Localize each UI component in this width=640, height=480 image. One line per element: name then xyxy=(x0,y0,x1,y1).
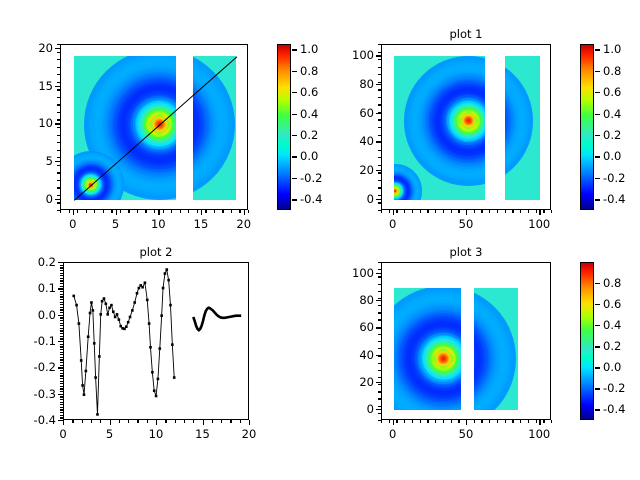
y-minor-tick xyxy=(378,363,381,364)
x-minor-tick xyxy=(77,210,78,213)
x-minor-tick xyxy=(396,420,397,423)
x-minor-tick xyxy=(420,420,421,423)
data-point-marker xyxy=(101,300,104,303)
x-minor-tick xyxy=(481,420,482,423)
data-point-marker xyxy=(149,346,152,349)
y-minor-tick xyxy=(378,112,381,113)
colorbar-tick xyxy=(595,388,600,389)
y-minor-tick xyxy=(57,52,60,53)
colorbar-tick xyxy=(292,135,297,136)
data-point-marker xyxy=(78,322,81,325)
colorbar-tick xyxy=(595,325,600,326)
axes-clip xyxy=(382,263,550,419)
x-minor-tick xyxy=(156,420,157,423)
data-point-marker xyxy=(171,343,174,346)
x-tick-label: 20 xyxy=(236,218,251,230)
y-minor-tick xyxy=(378,180,381,181)
x-minor-tick xyxy=(120,210,121,213)
x-tick-label: 100 xyxy=(528,428,550,440)
colorbar-tick xyxy=(292,92,297,93)
y-minor-tick xyxy=(57,97,60,98)
y-tick-label: 5 xyxy=(0,155,53,167)
y-minor-tick xyxy=(378,291,381,292)
y-minor-tick xyxy=(60,328,63,329)
line-series-group xyxy=(64,263,248,419)
y-minor-tick xyxy=(378,284,381,285)
y-minor-tick xyxy=(60,294,63,295)
y-minor-tick xyxy=(60,265,63,266)
x-minor-tick xyxy=(489,420,490,423)
x-minor-tick xyxy=(536,420,537,423)
y-minor-tick xyxy=(60,273,63,274)
x-minor-tick xyxy=(443,420,444,423)
y-tick-label: -0.2 xyxy=(3,361,56,373)
x-minor-tick xyxy=(420,210,421,213)
x-tick-label: 100 xyxy=(528,218,550,230)
x-minor-tick xyxy=(184,420,185,423)
colorbar-tick-label: 0.2 xyxy=(603,129,621,141)
data-point-marker xyxy=(146,299,149,302)
y-tick-label: 0 xyxy=(321,403,374,415)
x-tick xyxy=(158,210,159,215)
axes-plot-1 xyxy=(381,44,551,210)
x-minor-tick xyxy=(248,210,249,213)
x-minor-tick xyxy=(205,210,206,213)
y-minor-tick xyxy=(378,187,381,188)
y-minor-tick xyxy=(60,267,63,268)
y-tick-label: 0.1 xyxy=(3,282,56,294)
data-point-marker xyxy=(110,304,113,307)
x-minor-tick xyxy=(103,210,104,213)
y-minor-tick xyxy=(378,298,381,299)
data-point-marker xyxy=(127,321,130,324)
y-minor-tick xyxy=(60,396,63,397)
data-point-marker xyxy=(83,393,86,396)
x-minor-tick xyxy=(435,210,436,213)
x-minor-tick xyxy=(543,210,544,213)
data-point-marker xyxy=(144,281,147,284)
data-point-marker xyxy=(103,297,106,300)
colorbar-tick-label: -0.4 xyxy=(603,403,625,415)
x-minor-tick xyxy=(69,210,70,213)
data-point-marker xyxy=(138,287,141,290)
y-minor-tick xyxy=(60,375,63,376)
y-minor-tick xyxy=(60,367,63,368)
data-point-marker xyxy=(141,286,144,289)
x-tick-label: 50 xyxy=(459,218,474,230)
data-point-marker xyxy=(92,309,95,312)
data-point-marker xyxy=(72,295,75,298)
y-minor-tick xyxy=(60,317,63,318)
x-minor-tick xyxy=(63,420,64,423)
y-minor-tick xyxy=(60,359,63,360)
x-tick xyxy=(116,210,117,215)
y-minor-tick xyxy=(60,412,63,413)
y-minor-tick xyxy=(378,82,381,83)
y-minor-tick xyxy=(60,383,63,384)
x-minor-tick xyxy=(175,420,176,423)
colorbar-tick-label: 0.6 xyxy=(603,298,621,310)
y-tick-label: -0.4 xyxy=(3,414,56,426)
y-minor-tick xyxy=(60,357,63,358)
data-point-marker xyxy=(151,371,154,374)
colorbar-tick-label: -0.4 xyxy=(300,193,322,205)
y-tick-label: 20 xyxy=(321,164,374,176)
x-minor-tick xyxy=(128,210,129,213)
x-tick-label: 0 xyxy=(69,218,76,230)
y-minor-tick xyxy=(57,135,60,136)
colorbar-tick-label: 0.8 xyxy=(300,65,318,77)
y-minor-tick xyxy=(60,415,63,416)
x-minor-tick xyxy=(119,420,120,423)
data-point-marker xyxy=(80,359,83,362)
colorbar-plot-1 xyxy=(580,44,594,210)
data-point-marker xyxy=(112,310,115,313)
x-minor-tick xyxy=(137,210,138,213)
data-point-marker xyxy=(167,279,170,282)
x-minor-tick xyxy=(221,420,222,423)
y-minor-tick xyxy=(60,304,63,305)
y-minor-tick xyxy=(57,150,60,151)
colorbar-plot-0 xyxy=(277,44,291,210)
x-minor-tick xyxy=(458,210,459,213)
y-minor-tick xyxy=(60,320,63,321)
data-point-marker xyxy=(114,316,117,319)
colorbar-tick xyxy=(595,283,600,284)
x-minor-tick xyxy=(222,210,223,213)
y-tick-label: 100 xyxy=(321,49,374,61)
x-minor-tick xyxy=(145,210,146,213)
y-minor-tick xyxy=(60,399,63,400)
y-tick-label: -0.3 xyxy=(3,388,56,400)
x-minor-tick xyxy=(528,420,529,423)
y-minor-tick xyxy=(378,269,381,270)
y-minor-tick xyxy=(60,341,63,342)
colorbar-tick xyxy=(595,71,600,72)
y-minor-tick xyxy=(57,104,60,105)
y-tick xyxy=(376,199,381,200)
y-tick xyxy=(55,123,60,124)
y-minor-tick xyxy=(60,402,63,403)
y-minor-tick xyxy=(378,312,381,313)
y-minor-tick xyxy=(378,127,381,128)
y-minor-tick xyxy=(57,82,60,83)
x-minor-tick xyxy=(481,210,482,213)
x-minor-tick xyxy=(528,210,529,213)
y-minor-tick xyxy=(60,388,63,389)
x-minor-tick xyxy=(171,210,172,213)
y-minor-tick xyxy=(60,381,63,382)
x-minor-tick xyxy=(512,420,513,423)
x-tick-label: 20 xyxy=(242,428,257,440)
y-minor-tick xyxy=(60,275,63,276)
y-tick xyxy=(55,199,60,200)
y-minor-tick xyxy=(378,384,381,385)
y-tick xyxy=(376,84,381,85)
data-point-marker xyxy=(99,313,102,316)
y-minor-tick xyxy=(57,59,60,60)
y-minor-tick xyxy=(378,391,381,392)
y-tick-label: 40 xyxy=(321,349,374,361)
y-minor-tick xyxy=(60,386,63,387)
image-right-block xyxy=(193,56,236,199)
x-minor-tick xyxy=(466,420,467,423)
y-minor-tick xyxy=(378,276,381,277)
x-minor-tick xyxy=(512,210,513,213)
x-tick xyxy=(393,210,394,215)
x-minor-tick xyxy=(381,210,382,213)
colorbar-tick xyxy=(595,135,600,136)
y-minor-tick xyxy=(378,348,381,349)
figure-canvas: 0510152005101520-0.4-0.20.00.20.40.60.81… xyxy=(0,0,640,480)
y-tick-label: 0 xyxy=(321,193,374,205)
y-minor-tick xyxy=(60,312,63,313)
y-minor-tick xyxy=(60,283,63,284)
y-minor-tick xyxy=(378,104,381,105)
y-minor-tick xyxy=(378,165,381,166)
y-tick-label: -0.1 xyxy=(3,335,56,347)
y-tick xyxy=(376,273,381,274)
y-tick xyxy=(376,409,381,410)
image-left-block xyxy=(74,56,177,199)
y-minor-tick xyxy=(60,302,63,303)
data-point-marker xyxy=(125,325,128,328)
y-minor-tick xyxy=(60,417,63,418)
y-minor-tick xyxy=(378,202,381,203)
x-minor-tick xyxy=(188,210,189,213)
y-minor-tick xyxy=(60,409,63,410)
y-minor-tick xyxy=(378,67,381,68)
x-minor-tick xyxy=(505,210,506,213)
x-minor-tick xyxy=(404,420,405,423)
y-minor-tick xyxy=(57,165,60,166)
x-tick-label: 0 xyxy=(59,428,66,440)
x-minor-tick xyxy=(180,210,181,213)
plot-title: plot 1 xyxy=(381,28,551,41)
data-point-marker xyxy=(116,313,119,316)
colorbar-tick-label: 0.6 xyxy=(603,86,621,98)
y-minor-tick xyxy=(60,338,63,339)
x-minor-tick xyxy=(396,210,397,213)
y-tick xyxy=(376,170,381,171)
x-minor-tick xyxy=(240,420,241,423)
y-minor-tick xyxy=(60,296,63,297)
y-minor-tick xyxy=(378,327,381,328)
data-point-marker xyxy=(164,272,167,275)
colorbar-tick xyxy=(292,199,297,200)
colorbar-tick xyxy=(595,346,600,347)
y-minor-tick xyxy=(378,355,381,356)
x-tick-label: 5 xyxy=(106,428,113,440)
x-minor-tick xyxy=(214,210,215,213)
y-minor-tick xyxy=(378,413,381,414)
y-minor-tick xyxy=(57,187,60,188)
y-tick-label: 40 xyxy=(321,135,374,147)
colorbar-tick-label: 0.6 xyxy=(300,86,318,98)
colorbar-tick xyxy=(595,409,600,410)
x-minor-tick xyxy=(147,420,148,423)
axes-clip xyxy=(61,45,247,209)
y-minor-tick xyxy=(378,341,381,342)
y-minor-tick xyxy=(60,354,63,355)
colorbar-tick-label: -0.2 xyxy=(300,172,322,184)
plot-title: plot 3 xyxy=(381,246,551,259)
y-minor-tick xyxy=(60,315,63,316)
data-point-marker xyxy=(90,301,93,304)
x-minor-tick xyxy=(154,210,155,213)
y-minor-tick xyxy=(57,142,60,143)
y-tick-label: 80 xyxy=(321,294,374,306)
x-minor-tick xyxy=(389,420,390,423)
x-minor-tick xyxy=(60,210,61,213)
data-point-marker xyxy=(153,389,156,392)
y-minor-tick xyxy=(378,305,381,306)
x-tick xyxy=(539,210,540,215)
x-minor-tick xyxy=(91,420,92,423)
data-point-marker xyxy=(96,413,99,416)
x-tick-label: 10 xyxy=(149,428,164,440)
colorbar-tick-label: 0.4 xyxy=(300,108,318,120)
colorbar-tick-label: -0.2 xyxy=(603,172,625,184)
colorbar-tick xyxy=(595,114,600,115)
x-minor-tick xyxy=(100,420,101,423)
x-minor-tick xyxy=(231,210,232,213)
y-tick-label: 0 xyxy=(0,193,53,205)
y-tick-label: 100 xyxy=(321,267,374,279)
colorbar-tick xyxy=(595,49,600,50)
y-minor-tick xyxy=(57,112,60,113)
x-minor-tick xyxy=(451,210,452,213)
y-minor-tick xyxy=(60,325,63,326)
line-segment-b xyxy=(193,308,241,330)
y-minor-tick xyxy=(60,278,63,279)
axes-clip xyxy=(64,263,248,419)
y-minor-tick xyxy=(57,127,60,128)
x-minor-tick xyxy=(82,420,83,423)
y-tick-label: 60 xyxy=(321,107,374,119)
x-minor-tick xyxy=(474,420,475,423)
y-minor-tick xyxy=(60,336,63,337)
x-minor-tick xyxy=(497,420,498,423)
y-minor-tick xyxy=(60,365,63,366)
x-minor-tick xyxy=(443,210,444,213)
x-minor-tick xyxy=(497,210,498,213)
x-tick-label: 15 xyxy=(194,218,209,230)
colorbar-tick xyxy=(595,367,600,368)
x-tick xyxy=(73,210,74,215)
x-minor-tick xyxy=(427,420,428,423)
axes-plot-0 xyxy=(60,44,248,210)
data-point-marker xyxy=(81,384,84,387)
y-tick-label: 0.0 xyxy=(3,309,56,321)
axes-plot-3 xyxy=(381,262,551,420)
data-point-marker xyxy=(148,322,151,325)
x-minor-tick xyxy=(203,420,204,423)
data-point-marker xyxy=(158,347,161,350)
data-point-marker xyxy=(98,355,101,358)
data-point-marker xyxy=(118,318,121,321)
y-minor-tick xyxy=(60,323,63,324)
data-point-marker xyxy=(94,376,97,379)
x-minor-tick xyxy=(466,210,467,213)
y-minor-tick xyxy=(378,89,381,90)
y-minor-tick xyxy=(60,407,63,408)
x-minor-tick xyxy=(94,210,95,213)
y-minor-tick xyxy=(57,202,60,203)
y-tick xyxy=(376,300,381,301)
y-tick-label: 0.2 xyxy=(3,256,56,268)
y-minor-tick xyxy=(60,288,63,289)
x-tick-label: 10 xyxy=(151,218,166,230)
y-minor-tick xyxy=(378,142,381,143)
data-point-marker xyxy=(85,370,88,373)
data-point-marker xyxy=(169,304,172,307)
colorbar-tick-label: 0.8 xyxy=(603,65,621,77)
x-minor-tick xyxy=(111,210,112,213)
colorbar-tick-label: 1.0 xyxy=(300,43,318,55)
data-point-marker xyxy=(89,312,92,315)
data-point-marker xyxy=(106,313,109,316)
y-minor-tick xyxy=(60,349,63,350)
x-tick-label: 5 xyxy=(112,218,119,230)
x-minor-tick xyxy=(520,420,521,423)
x-minor-tick xyxy=(249,420,250,423)
x-minor-tick xyxy=(412,210,413,213)
x-minor-tick xyxy=(404,210,405,213)
y-minor-tick xyxy=(378,59,381,60)
data-point-marker xyxy=(129,316,132,319)
data-point-marker xyxy=(173,376,176,379)
y-tick-label: 10 xyxy=(0,117,53,129)
x-minor-tick xyxy=(505,420,506,423)
data-point-marker xyxy=(155,395,158,398)
x-minor-tick xyxy=(193,420,194,423)
y-minor-tick xyxy=(378,370,381,371)
x-minor-tick xyxy=(86,210,87,213)
y-tick xyxy=(376,382,381,383)
colorbar-tick-label: 0.0 xyxy=(603,361,621,373)
x-minor-tick xyxy=(451,420,452,423)
data-point-marker xyxy=(108,306,111,309)
x-minor-tick xyxy=(212,420,213,423)
data-point-marker xyxy=(75,304,78,307)
data-point-marker xyxy=(87,335,90,338)
y-minor-tick xyxy=(378,398,381,399)
y-minor-tick xyxy=(378,44,381,45)
y-minor-tick xyxy=(378,195,381,196)
y-minor-tick xyxy=(60,391,63,392)
y-minor-tick xyxy=(378,319,381,320)
image-right-block xyxy=(474,288,518,411)
x-tick xyxy=(539,420,540,425)
data-point-marker xyxy=(93,342,96,345)
y-minor-tick xyxy=(60,394,63,395)
y-tick-label: 60 xyxy=(321,321,374,333)
y-minor-tick xyxy=(60,270,63,271)
x-tick xyxy=(201,210,202,215)
y-minor-tick xyxy=(378,97,381,98)
colorbar-tick xyxy=(292,114,297,115)
image-right-block xyxy=(505,56,540,199)
x-tick-label: 0 xyxy=(389,428,396,440)
y-minor-tick xyxy=(60,404,63,405)
y-minor-tick xyxy=(60,299,63,300)
y-minor-tick xyxy=(57,172,60,173)
colorbar-tick xyxy=(595,156,600,157)
x-tick xyxy=(393,420,394,425)
colorbar-tick xyxy=(292,178,297,179)
data-point-marker xyxy=(162,287,165,290)
